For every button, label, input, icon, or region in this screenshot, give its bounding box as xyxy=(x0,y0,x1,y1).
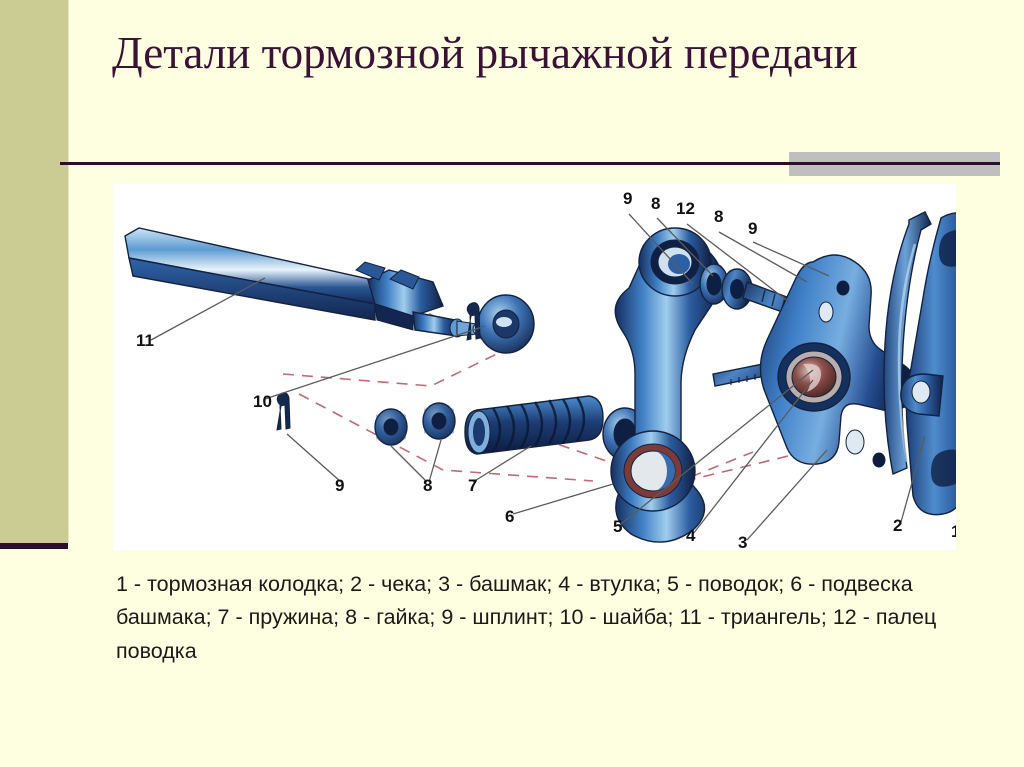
part-7-spring xyxy=(465,396,603,454)
title-rule xyxy=(60,162,1000,165)
callout-7: 7 xyxy=(468,476,477,495)
callout-10: 10 xyxy=(253,392,272,411)
callout-5: 5 xyxy=(613,517,622,536)
slide-canvas: Детали тормозной рычажной передачи xyxy=(0,0,1024,767)
callout-11: 11 xyxy=(136,331,154,350)
exploded-view-diagram: 11 10 9 8 7 6 9 8 12 8 9 5 4 3 2 1 xyxy=(113,184,956,550)
left-decorative-band xyxy=(0,0,69,543)
part-9-cotter-pin-lower-left xyxy=(277,393,290,430)
part-8-nut-a xyxy=(375,409,407,445)
assembly-axis-dashed-lines xyxy=(283,306,813,484)
left-band-foot-rule xyxy=(0,543,68,549)
page-title: Детали тормозной рычажной передачи xyxy=(112,26,912,81)
figure-panel: 11 10 9 8 7 6 9 8 12 8 9 5 4 3 2 1 xyxy=(113,184,956,550)
callout-9-left: 9 xyxy=(335,476,344,495)
callout-1: 1 xyxy=(951,522,956,541)
callout-4: 4 xyxy=(686,526,696,545)
part-10-washer xyxy=(478,295,534,353)
callout-8-top: 8 xyxy=(651,194,660,213)
callout-9-right: 9 xyxy=(748,219,757,238)
callout-6: 6 xyxy=(505,507,514,526)
part-4-bushing xyxy=(778,343,850,411)
part-11-triangel xyxy=(125,228,481,337)
callout-2: 2 xyxy=(893,516,902,535)
callout-12: 12 xyxy=(676,199,695,218)
part-8-nut-b xyxy=(423,403,455,439)
callout-8-right: 8 xyxy=(714,207,723,226)
callout-3: 3 xyxy=(738,533,747,550)
callout-8-left: 8 xyxy=(423,476,432,495)
figure-caption: 1 - тормозная колодка; 2 - чека; 3 - баш… xyxy=(116,568,946,668)
callout-9-top: 9 xyxy=(623,189,632,208)
